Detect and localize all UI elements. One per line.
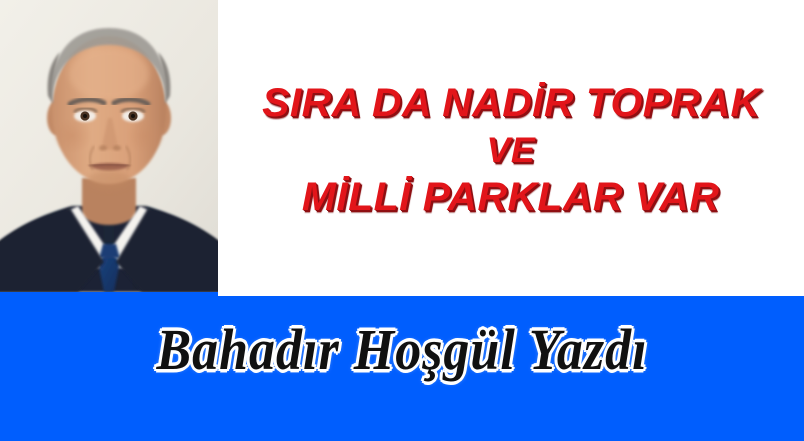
byline-band-notch <box>218 292 804 296</box>
byline-text: Bahadır Hoşgül Yazdı <box>0 319 804 383</box>
headline-block: SIRA DA NADİR TOPRAK VE MİLLİ PARKLAR VA… <box>218 0 804 295</box>
headline-line-3: MİLLİ PARKLAR VAR <box>302 176 719 219</box>
headline-line-2: VE <box>487 132 536 169</box>
headline-line-1: SIRA DA NADİR TOPRAK <box>262 82 760 125</box>
portrait-photo <box>0 0 218 292</box>
news-article-banner: SIRA DA NADİR TOPRAK VE MİLLİ PARKLAR VA… <box>0 0 804 441</box>
